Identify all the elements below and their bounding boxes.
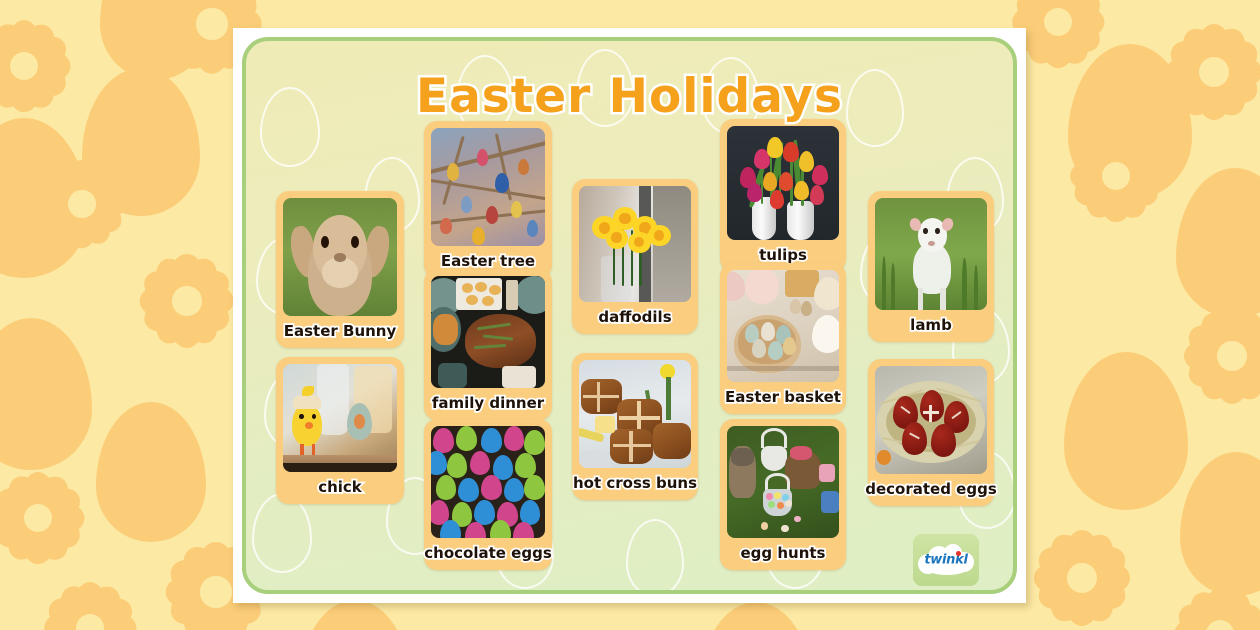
card-egg-hunts[interactable]: egg hunts bbox=[720, 419, 846, 570]
card-chocolate-eggs[interactable]: chocolate eggs bbox=[424, 419, 552, 570]
decorative-egg-outline bbox=[252, 493, 312, 573]
photo-tulips bbox=[727, 126, 839, 240]
card-label: family dinner bbox=[430, 388, 546, 420]
background-egg bbox=[1064, 352, 1188, 510]
background-egg bbox=[96, 402, 206, 542]
card-label: hot cross buns bbox=[571, 468, 699, 500]
background-egg bbox=[1180, 452, 1260, 596]
background-flower bbox=[1172, 586, 1260, 630]
photo-decorated-eggs bbox=[875, 366, 987, 474]
background-egg bbox=[0, 318, 92, 470]
poster-frame: Easter Holidays Easter Bunny bbox=[242, 37, 1017, 594]
twinkl-logo[interactable]: twinkl bbox=[913, 534, 979, 586]
twinkl-wordmark: twinkl bbox=[918, 553, 974, 568]
card-decorated-eggs[interactable]: decorated eggs bbox=[868, 359, 994, 506]
background-flower bbox=[138, 252, 236, 350]
card-label: decorated eggs bbox=[863, 474, 999, 506]
card-label: Easter basket bbox=[723, 382, 843, 414]
photo-easter-bunny bbox=[283, 198, 397, 316]
background-flower bbox=[36, 158, 128, 250]
photo-easter-tree bbox=[431, 128, 545, 246]
card-label: egg hunts bbox=[738, 538, 827, 570]
background-flower bbox=[1068, 128, 1164, 224]
card-easter-basket[interactable]: Easter basket bbox=[720, 263, 846, 414]
decorative-egg-outline bbox=[626, 519, 684, 594]
card-easter-tree[interactable]: Easter tree bbox=[424, 121, 552, 278]
photo-chick bbox=[283, 364, 397, 472]
card-label: Easter Bunny bbox=[282, 316, 399, 348]
card-label: chocolate eggs bbox=[422, 538, 553, 570]
photo-hot-cross-buns bbox=[579, 360, 691, 468]
flower-center bbox=[200, 576, 231, 607]
photo-chocolate-eggs bbox=[431, 426, 545, 538]
card-daffodils[interactable]: daffodils bbox=[572, 179, 698, 334]
twinkl-dot-icon bbox=[956, 551, 961, 556]
flower-center bbox=[196, 8, 227, 39]
poster-page: Easter Holidays Easter Bunny bbox=[233, 28, 1026, 603]
card-label: lamb bbox=[908, 310, 954, 342]
flower-center bbox=[1199, 57, 1229, 87]
photo-egg-hunts bbox=[727, 426, 839, 538]
background-flower bbox=[0, 18, 72, 114]
flower-center bbox=[68, 190, 96, 218]
photo-family-dinner bbox=[431, 276, 545, 388]
card-easter-bunny[interactable]: Easter Bunny bbox=[276, 191, 404, 348]
card-hot-cross-buns[interactable]: hot cross buns bbox=[572, 353, 698, 500]
photo-easter-basket bbox=[727, 270, 839, 382]
card-chick[interactable]: chick bbox=[276, 357, 404, 504]
card-family-dinner[interactable]: family dinner bbox=[424, 269, 552, 420]
photo-daffodils bbox=[579, 186, 691, 302]
card-label: daffodils bbox=[596, 302, 673, 334]
background-egg bbox=[1176, 168, 1260, 318]
page-title: Easter Holidays bbox=[246, 69, 1013, 124]
flower-center bbox=[172, 286, 201, 315]
flower-center bbox=[1067, 563, 1097, 593]
background-flower bbox=[0, 470, 86, 566]
cloud-icon: twinkl bbox=[918, 544, 974, 576]
flower-center bbox=[1217, 341, 1247, 371]
card-label: chick bbox=[316, 472, 364, 504]
background-flower bbox=[1032, 528, 1132, 628]
background-egg bbox=[300, 600, 410, 630]
background-egg bbox=[700, 602, 812, 630]
background-flower bbox=[42, 580, 138, 630]
photo-lamb bbox=[875, 198, 987, 310]
card-tulips[interactable]: tulips bbox=[720, 119, 846, 272]
background-flower bbox=[1164, 22, 1260, 122]
card-lamb[interactable]: lamb bbox=[868, 191, 994, 342]
background-flower bbox=[1182, 306, 1260, 406]
